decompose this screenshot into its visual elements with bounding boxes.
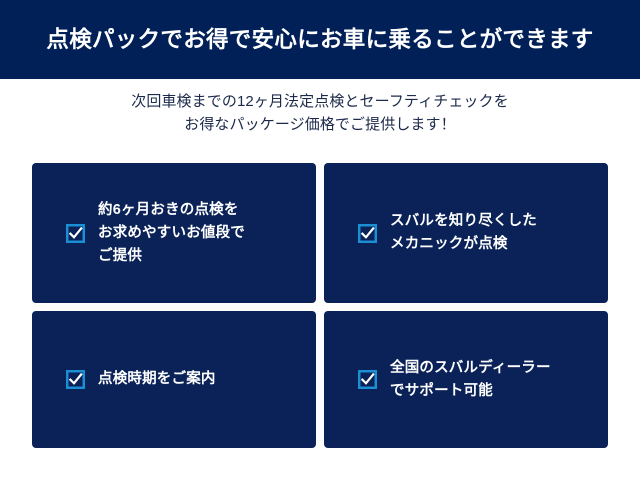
feature-card-1-label: 約6ヶ月おきの点検を お求めやすいお値段で ご提供	[98, 199, 245, 268]
checkbox-checked-icon	[358, 224, 377, 243]
checkbox-checked-icon	[66, 370, 85, 389]
feature-card-1-content: 約6ヶ月おきの点検を お求めやすいお値段で ご提供	[66, 199, 245, 268]
feature-card-4-content: 全国のスバルディーラー でサポート可能	[358, 357, 551, 403]
feature-card-3-label: 点検時期をご案内	[98, 368, 216, 391]
feature-card-grid: 約6ヶ月おきの点検を お求めやすいお値段で ご提供 スバルを知り尽くした メカニ…	[32, 163, 608, 448]
subtitle-line-2: お得なパッケージ価格でご提供します！	[0, 113, 640, 136]
page-title: 点検パックでお得で安心にお車に乗ることができます	[46, 26, 593, 53]
feature-card-1: 約6ヶ月おきの点検を お求めやすいお値段で ご提供	[32, 163, 316, 303]
subtitle-block: 次回車検までの12ヶ月法定点検とセーフティチェックを お得なパッケージ価格でご提…	[0, 90, 640, 136]
checkbox-checked-icon	[66, 224, 85, 243]
feature-card-4: 全国のスバルディーラー でサポート可能	[324, 311, 608, 448]
header-banner: 点検パックでお得で安心にお車に乗ることができます	[0, 0, 640, 79]
subtitle-line-1: 次回車検までの12ヶ月法定点検とセーフティチェックを	[0, 90, 640, 113]
feature-card-3-content: 点検時期をご案内	[66, 368, 216, 391]
feature-card-4-label: 全国のスバルディーラー でサポート可能	[390, 357, 551, 403]
feature-card-2-content: スバルを知り尽くした メカニックが点検	[358, 210, 537, 256]
feature-card-2: スバルを知り尽くした メカニックが点検	[324, 163, 608, 303]
feature-card-3: 点検時期をご案内	[32, 311, 316, 448]
feature-card-2-label: スバルを知り尽くした メカニックが点検	[390, 210, 537, 256]
checkbox-checked-icon	[358, 370, 377, 389]
